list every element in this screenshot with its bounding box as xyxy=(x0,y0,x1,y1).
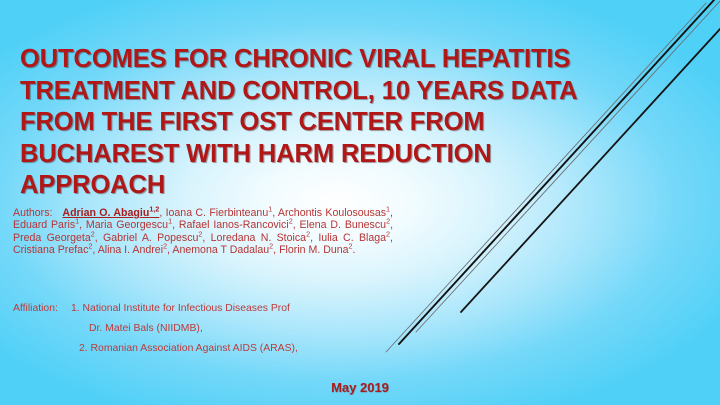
author-superscript: 2 xyxy=(289,217,293,226)
author-superscript: 2 xyxy=(163,242,167,251)
title-line-3: FROM THE FIRST OST CENTER FROM xyxy=(20,107,632,139)
author-superscript: 1,2 xyxy=(149,204,159,213)
affiliation-list: Affiliation:1. National Institute for In… xyxy=(13,299,413,359)
title-line-1: OUTCOMES FOR CHRONIC VIRAL HEPATITIS xyxy=(20,44,632,76)
author-name: Maria Georgescu xyxy=(86,219,168,231)
author-superscript: 2 xyxy=(198,229,202,238)
author-superscript: 2 xyxy=(386,217,390,226)
authors-list: Authors: Adrian O. Abagiu1,2, Ioana C. F… xyxy=(13,207,393,257)
title-line-4: BUCHAREST WITH HARM REDUCTION xyxy=(20,139,632,171)
author-superscript: 1 xyxy=(268,204,272,213)
author-superscript: 2 xyxy=(386,229,390,238)
author-superscript: 1 xyxy=(386,204,390,213)
affiliation-line-1: 1. National Institute for Infectious Dis… xyxy=(71,303,290,314)
authors-label: Authors: xyxy=(13,207,52,219)
author-name: Ioana C. Fierbinteanu xyxy=(166,207,269,219)
author-name: Loredana N. Stoica xyxy=(211,232,306,244)
presentation-title-slide: OUTCOMES FOR CHRONIC VIRAL HEPATITIS TRE… xyxy=(0,0,720,405)
affiliation-label: Affiliation: xyxy=(13,299,71,319)
title-line-2: TREATMENT AND CONTROL, 10 YEARS DATA xyxy=(20,76,632,108)
affiliation-row-3: 2. Romanian Association Against AIDS (AR… xyxy=(13,339,413,359)
author-name: Anemona T Dadalau xyxy=(172,244,269,256)
author-superscript: 2 xyxy=(88,242,92,251)
title-line-5: APPROACH xyxy=(20,170,632,202)
author-name: Alina I. Andrei xyxy=(98,244,163,256)
affiliation-line-2: Dr. Matei Bals (NIIDMB), xyxy=(89,323,203,334)
affiliation-row-2: Dr. Matei Bals (NIIDMB), xyxy=(13,319,413,339)
author-name: Rafael Ianos-Rancovici xyxy=(179,219,289,231)
author-superscript: 2 xyxy=(349,242,353,251)
author-name: Cristiana Prefac xyxy=(13,244,88,256)
affiliation-row-1: Affiliation:1. National Institute for In… xyxy=(13,299,413,319)
author-superscript: 2 xyxy=(306,229,310,238)
presentation-date: May 2019 xyxy=(0,380,720,395)
author-name: Gabriel A. Popescu xyxy=(103,232,198,244)
author-superscript: 2 xyxy=(269,242,273,251)
author-name: Elena D. Bunescu xyxy=(299,219,386,231)
page-title: OUTCOMES FOR CHRONIC VIRAL HEPATITIS TRE… xyxy=(20,44,632,202)
affiliation-line-3: 2. Romanian Association Against AIDS (AR… xyxy=(79,343,298,354)
author-name: Archontis Koulosousas xyxy=(278,207,386,219)
author-name: Florin M. Duna xyxy=(279,244,348,256)
author-name: Eduard Paris xyxy=(13,219,75,231)
author-superscript: 2 xyxy=(91,229,95,238)
author-superscript: 1 xyxy=(75,217,79,226)
author-name: Preda Georgeta xyxy=(13,232,91,244)
author-superscript: 1 xyxy=(168,217,172,226)
